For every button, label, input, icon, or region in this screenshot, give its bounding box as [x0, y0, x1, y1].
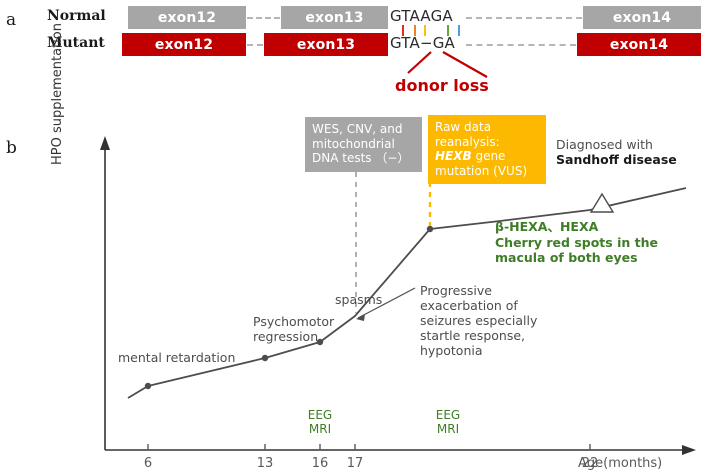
- box-raw-line2-rest: gene: [472, 149, 506, 163]
- annotation-green-findings: β-HEXA、HEXA Cherry red spots in the macu…: [495, 219, 695, 266]
- x-tick-label-13: 13: [257, 456, 274, 471]
- eeg-label-16: EEG: [308, 408, 332, 422]
- box-raw-line2: HEXB gene: [435, 149, 539, 164]
- milestone-psychomotor-regression: Psychomotor regression: [253, 314, 353, 344]
- gene-name-hexb: HEXB: [435, 149, 472, 163]
- green-line1: β-HEXA、HEXA: [495, 219, 695, 235]
- data-point-6mo: [145, 383, 151, 389]
- diagnosis-disease-name: Sandhoff disease: [556, 152, 677, 167]
- data-point-13mo: [262, 355, 268, 361]
- progressive-line3: seizures especially: [420, 313, 545, 328]
- diagnosis-line1: Diagnosed with: [556, 137, 706, 152]
- leader-arrow-progressive: [356, 314, 365, 321]
- progressive-line4: startle response,: [420, 328, 545, 343]
- test-marker-17mo: EEG MRI: [436, 408, 460, 436]
- box-wes-line3: DNA tests （−）: [312, 151, 415, 166]
- mri-label-17: MRI: [436, 422, 460, 436]
- milestone-spasms: spasms: [335, 292, 382, 307]
- test-marker-16mo: EEG MRI: [308, 408, 332, 436]
- box-wes-line1: WES, CNV, and: [312, 122, 415, 137]
- psychomotor-line2: regression: [253, 329, 353, 344]
- data-point-19mo: [427, 226, 433, 232]
- box-raw-line1: Raw data reanalysis:: [435, 120, 539, 149]
- y-axis: [100, 136, 110, 450]
- x-tick-label-16: 16: [312, 456, 329, 471]
- milestone-progressive-seizures: Progressive exacerbation of seizures esp…: [420, 283, 545, 358]
- annotation-box-wes: WES, CNV, and mitochondrial DNA tests （−…: [305, 117, 422, 172]
- mri-label-16: MRI: [308, 422, 332, 436]
- x-axis-label: Age(months): [578, 456, 662, 471]
- green-line2: Cherry red spots in the: [495, 235, 695, 251]
- progressive-line2: exacerbation of: [420, 298, 545, 313]
- donor-loss-label: donor loss: [395, 76, 489, 95]
- progressive-line5: hypotonia: [420, 343, 545, 358]
- box-raw-line3: mutation (VUS): [435, 164, 539, 179]
- x-axis: [105, 444, 696, 455]
- milestone-mental-retardation: mental retardation: [118, 350, 235, 365]
- psychomotor-line1: Psychomotor: [253, 314, 353, 329]
- diagnosis-line2: Sandhoff disease: [556, 152, 706, 167]
- annotation-box-raw-reanalysis: Raw data reanalysis: HEXB gene mutation …: [428, 115, 546, 184]
- eeg-label-17: EEG: [436, 408, 460, 422]
- donor-loss-arrow-group: [0, 0, 708, 110]
- annotation-diagnosis: Diagnosed with Sandhoff disease: [556, 137, 706, 167]
- x-tick-label-6: 6: [144, 456, 152, 471]
- figure-root: a Normal Mutant exon12 exon13 exon14 exo…: [0, 0, 708, 476]
- box-wes-line2: mitochondrial: [312, 137, 415, 152]
- x-tick-label-17: 17: [347, 456, 364, 471]
- diagnosis-triangle-marker: [591, 194, 613, 212]
- progressive-line1: Progressive: [420, 283, 545, 298]
- green-line3: macula of both eyes: [495, 250, 695, 266]
- y-axis-label: HPO supplementation: [50, 0, 65, 165]
